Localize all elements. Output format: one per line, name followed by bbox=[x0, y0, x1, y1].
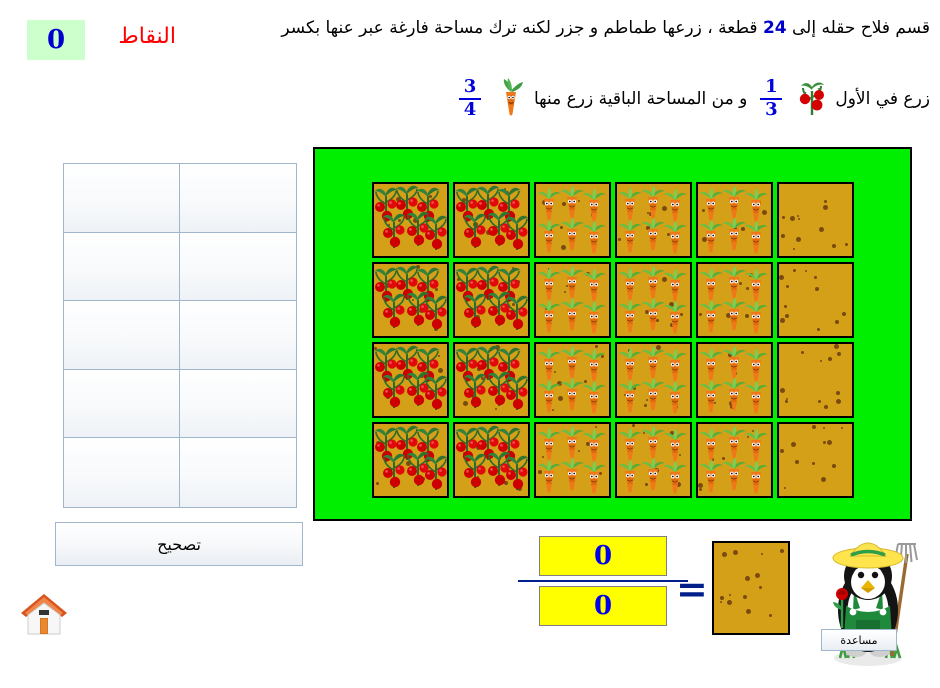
soil-speck bbox=[746, 609, 751, 614]
equals-sign: = bbox=[676, 570, 708, 608]
soil-speck bbox=[796, 237, 801, 242]
field-plot-carrot[interactable] bbox=[534, 182, 611, 258]
soil-speck bbox=[761, 553, 763, 555]
soil-speck bbox=[834, 344, 839, 349]
soil-speck bbox=[824, 200, 827, 203]
fraction-numerator: 3 bbox=[464, 78, 477, 97]
statement-text-before: قسم فلاح حقله إلى bbox=[792, 18, 930, 38]
field-plot-empty[interactable] bbox=[777, 262, 854, 338]
field-plot-carrot[interactable] bbox=[696, 262, 773, 338]
field-plot-tomato[interactable] bbox=[372, 422, 449, 498]
soil-speck bbox=[837, 352, 841, 356]
answer-cell[interactable] bbox=[180, 233, 296, 302]
soil-speck bbox=[780, 388, 785, 393]
statement-line2-part1: زرع في الأول bbox=[835, 91, 930, 108]
soil-speck bbox=[815, 287, 819, 291]
soil-speck bbox=[745, 576, 750, 581]
soil-speck bbox=[785, 314, 789, 318]
field-plot-tomato[interactable] bbox=[453, 262, 530, 338]
correction-button[interactable]: تصحيح bbox=[55, 522, 303, 566]
soil-speck bbox=[722, 552, 727, 557]
answer-cell[interactable] bbox=[180, 301, 296, 370]
answer-cell[interactable] bbox=[64, 370, 180, 439]
field-plot-carrot[interactable] bbox=[696, 182, 773, 258]
soil-speck bbox=[820, 360, 822, 362]
soil-speck bbox=[801, 351, 804, 354]
field-plot-tomato[interactable] bbox=[372, 182, 449, 258]
soil-speck bbox=[781, 234, 785, 238]
field-plot-tomato[interactable] bbox=[453, 422, 530, 498]
correction-button-label: تصحيح bbox=[157, 535, 201, 554]
soil-speck bbox=[817, 328, 820, 331]
answer-fraction-bar bbox=[518, 580, 688, 582]
answer-grid[interactable] bbox=[63, 163, 297, 508]
score-value: 0 bbox=[47, 25, 65, 55]
field-plot-tomato[interactable] bbox=[453, 182, 530, 258]
problem-statement-line-1: قسم فلاح حقله إلى 24 قطعة ، زرعها طماطم … bbox=[200, 18, 930, 38]
fraction-three-quarters: 3 4 bbox=[459, 78, 481, 120]
numerator-value: 0 bbox=[594, 541, 612, 571]
statement-text-after: قطعة ، زرعها طماطم و جزر لكنه ترك مساحة … bbox=[281, 18, 757, 38]
soil-speck bbox=[812, 425, 816, 429]
field-plot-tomato[interactable] bbox=[372, 342, 449, 418]
answer-cell[interactable] bbox=[180, 370, 296, 439]
answer-cell[interactable] bbox=[180, 164, 296, 233]
soil-speck bbox=[805, 270, 807, 272]
soil-speck bbox=[832, 244, 836, 248]
problem-statement-line-2: زرع في الأول 1 3 و من المساحة الباقية زر… bbox=[310, 74, 930, 124]
numerator-input[interactable]: 0 bbox=[539, 536, 667, 576]
soil-speck bbox=[818, 400, 821, 403]
soil-speck bbox=[827, 440, 832, 445]
soil-speck bbox=[812, 462, 815, 465]
soil-speck bbox=[779, 275, 784, 280]
field-plot-carrot[interactable] bbox=[534, 342, 611, 418]
soil-speck bbox=[795, 460, 799, 464]
soil-speck bbox=[845, 243, 848, 246]
field-plot-carrot[interactable] bbox=[534, 422, 611, 498]
answer-cell[interactable] bbox=[180, 438, 296, 507]
field-plot-carrot[interactable] bbox=[615, 182, 692, 258]
soil-speck bbox=[720, 596, 724, 600]
soil-speck bbox=[793, 248, 795, 250]
soil-speck bbox=[733, 550, 738, 555]
fraction-denominator: 3 bbox=[765, 101, 778, 120]
answer-cell[interactable] bbox=[64, 164, 180, 233]
soil-speck bbox=[797, 215, 799, 217]
carrot-icon bbox=[494, 76, 528, 123]
soil-speck bbox=[780, 549, 784, 553]
soil-speck bbox=[823, 441, 826, 444]
answer-cell[interactable] bbox=[64, 301, 180, 370]
soil-speck bbox=[842, 312, 846, 316]
soil-speck bbox=[759, 586, 762, 589]
soil-speck bbox=[823, 427, 825, 429]
tomato-plant-icon bbox=[795, 77, 829, 122]
field-plot-carrot[interactable] bbox=[615, 262, 692, 338]
soil-speck bbox=[793, 269, 796, 272]
field-plot-tomato[interactable] bbox=[453, 342, 530, 418]
soil-speck bbox=[841, 427, 843, 429]
home-icon[interactable] bbox=[18, 588, 70, 640]
soil-speck bbox=[755, 573, 760, 578]
penguin-farmer-icon bbox=[812, 524, 932, 684]
field-plot-empty[interactable] bbox=[777, 422, 854, 498]
soil-speck bbox=[791, 442, 796, 447]
soil-speck bbox=[780, 318, 785, 323]
denominator-value: 0 bbox=[594, 591, 612, 621]
soil-speck bbox=[780, 449, 784, 453]
field-plot-carrot[interactable] bbox=[534, 262, 611, 338]
soil-speck bbox=[836, 399, 841, 404]
help-button-label: مساعدة bbox=[840, 634, 877, 647]
farm-field bbox=[313, 147, 912, 521]
field-plot-empty[interactable] bbox=[777, 182, 854, 258]
soil-speck bbox=[786, 285, 789, 288]
fraction-numerator: 1 bbox=[765, 78, 778, 97]
soil-speck bbox=[836, 391, 840, 395]
field-plot-grid[interactable] bbox=[372, 182, 858, 498]
help-button[interactable]: مساعدة bbox=[821, 629, 897, 651]
answer-fraction: 0 0 bbox=[518, 536, 688, 626]
field-plot-carrot[interactable] bbox=[696, 422, 773, 498]
soil-speck bbox=[798, 218, 800, 220]
soil-speck bbox=[790, 216, 795, 221]
field-plot-empty[interactable] bbox=[777, 342, 854, 418]
score-label: النقاط bbox=[96, 24, 176, 49]
soil-speck bbox=[729, 594, 731, 596]
field-plot-carrot[interactable] bbox=[696, 342, 773, 418]
empty-soil-reference bbox=[712, 541, 790, 635]
soil-speck bbox=[824, 405, 828, 409]
field-plot-carrot[interactable] bbox=[615, 422, 692, 498]
fraction-denominator: 4 bbox=[464, 101, 477, 120]
soil-speck bbox=[828, 357, 832, 361]
soil-speck bbox=[785, 400, 788, 403]
answer-cell[interactable] bbox=[64, 233, 180, 302]
soil-speck bbox=[823, 205, 828, 210]
field-plot-carrot[interactable] bbox=[615, 342, 692, 418]
soil-speck bbox=[786, 398, 788, 400]
statement-number: 24 bbox=[763, 18, 787, 38]
soil-speck bbox=[832, 464, 836, 468]
soil-speck bbox=[835, 320, 839, 324]
soil-speck bbox=[819, 227, 824, 232]
soil-speck bbox=[784, 305, 787, 308]
soil-speck bbox=[743, 595, 747, 599]
soil-speck bbox=[720, 601, 722, 603]
soil-speck bbox=[784, 487, 786, 489]
fraction-one-third: 1 3 bbox=[760, 78, 782, 120]
soil-speck bbox=[821, 477, 826, 482]
soil-speck bbox=[769, 614, 772, 617]
answer-cell[interactable] bbox=[64, 438, 180, 507]
soil-speck bbox=[814, 276, 817, 279]
field-plot-tomato[interactable] bbox=[372, 262, 449, 338]
score-box: 0 bbox=[27, 20, 85, 60]
statement-line2-part2: و من المساحة الباقية زرع منها bbox=[534, 91, 747, 108]
denominator-input[interactable]: 0 bbox=[539, 586, 667, 626]
soil-speck bbox=[782, 216, 785, 219]
soil-speck bbox=[727, 600, 732, 605]
